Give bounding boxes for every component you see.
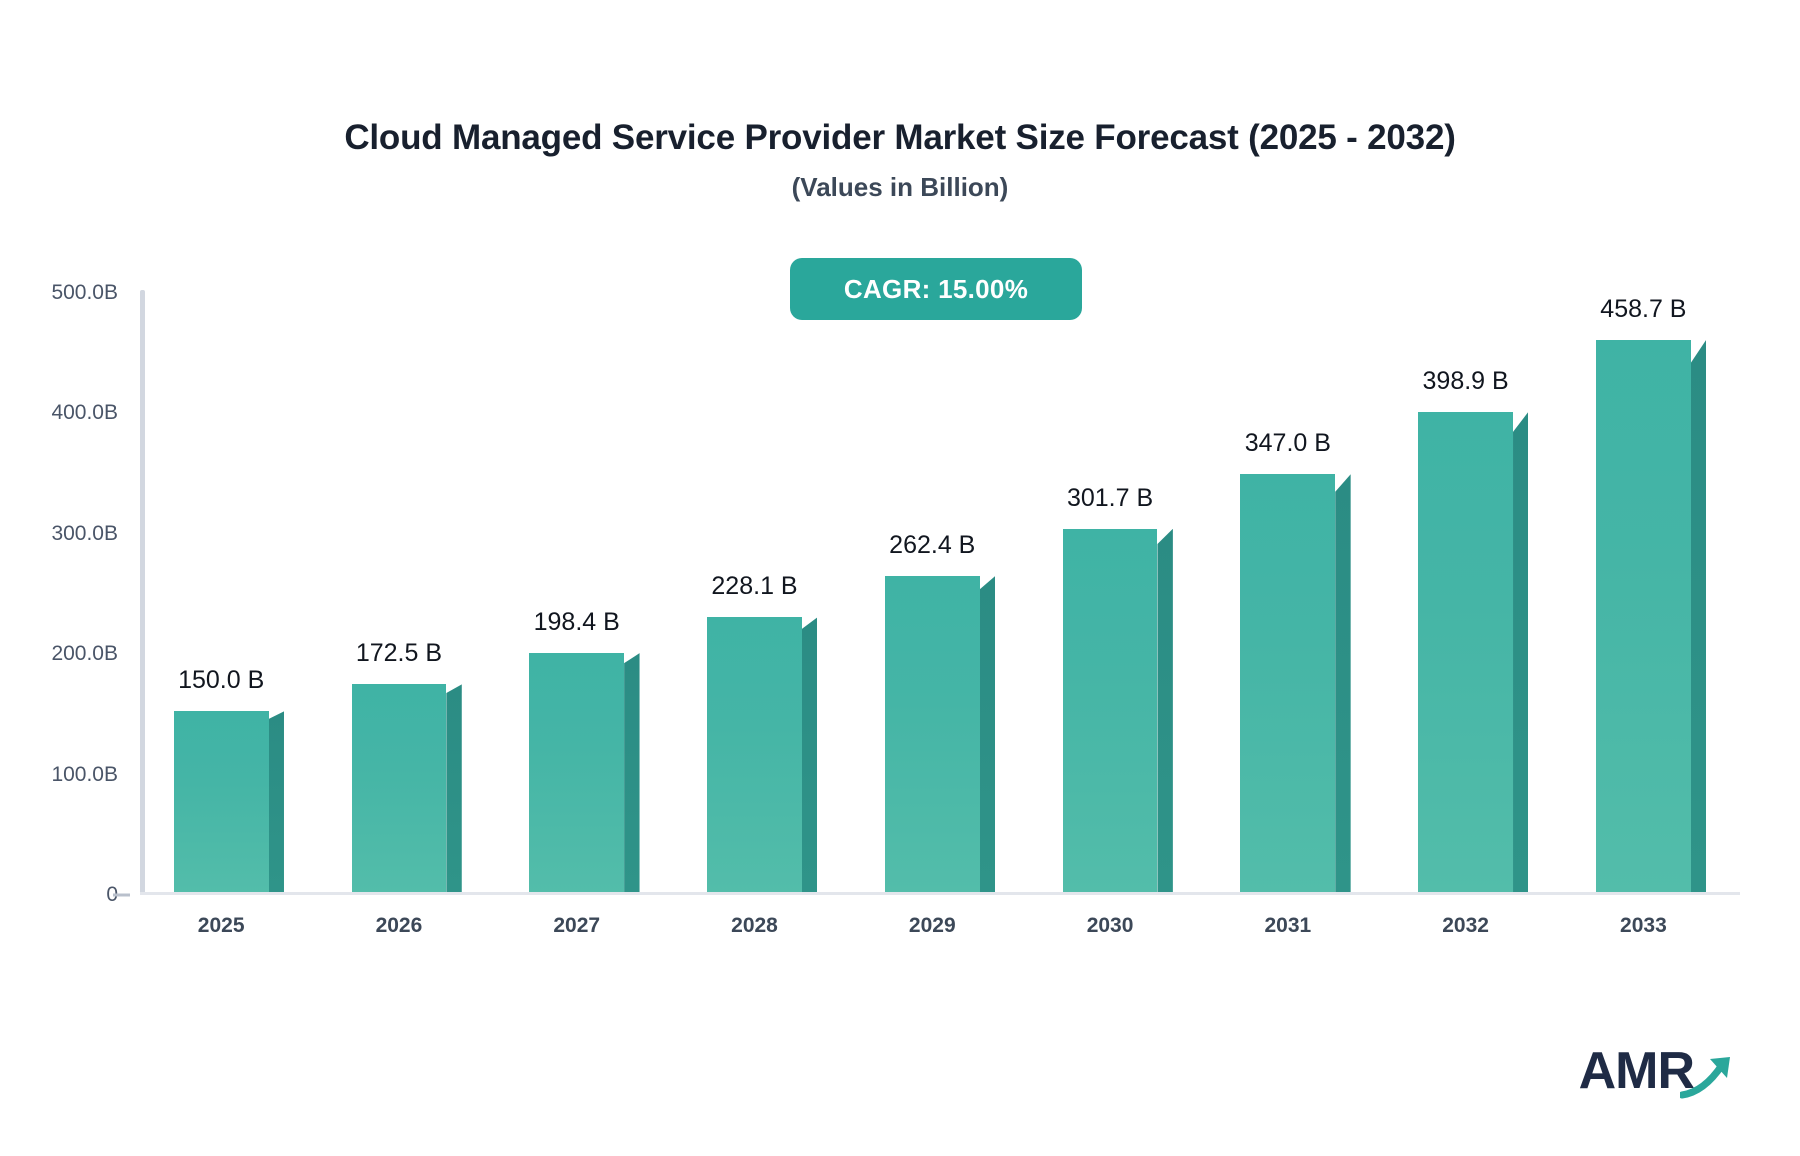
amr-logo: AMR xyxy=(1579,1037,1738,1104)
bar-group: 172.5 B2026 xyxy=(352,290,462,892)
bar-group: 198.4 B2027 xyxy=(529,290,639,892)
bar-group: 347.0 B2031 xyxy=(1240,290,1350,892)
bar[interactable]: 458.7 B xyxy=(1596,340,1706,892)
bar-side-face xyxy=(1691,340,1706,892)
x-axis-tick-label: 2030 xyxy=(1063,914,1158,938)
chart-page: Cloud Managed Service Provider Market Si… xyxy=(0,0,1800,1156)
bar-value-label: 301.7 B xyxy=(1063,484,1158,513)
x-axis-tick-label: 2028 xyxy=(707,914,802,938)
bar-value-label: 228.1 B xyxy=(707,572,802,601)
bar-group: 150.0 B2025 xyxy=(174,290,284,892)
bar-side-face xyxy=(624,653,639,892)
bar-group: 458.7 B2033 xyxy=(1596,290,1706,892)
bar-side-face xyxy=(802,617,817,892)
cagr-badge: CAGR: 15.00% xyxy=(790,258,1082,320)
x-axis-tick-label: 2025 xyxy=(174,914,269,938)
bar-side-face xyxy=(1513,412,1528,892)
bar-side-face xyxy=(1335,474,1350,892)
bar[interactable]: 347.0 B xyxy=(1240,474,1350,892)
bar-front-face xyxy=(1418,412,1513,892)
bar-value-label: 172.5 B xyxy=(352,639,447,668)
bar-front-face xyxy=(1596,340,1691,892)
bar-value-label: 262.4 B xyxy=(885,531,980,560)
y-axis-tick-label: 500.0B xyxy=(51,281,118,305)
bar-side-face xyxy=(1157,529,1172,892)
bar-side-face xyxy=(446,684,461,892)
y-axis-tick-label: 400.0B xyxy=(51,401,118,425)
bar[interactable]: 228.1 B xyxy=(707,617,817,892)
page-title: Cloud Managed Service Provider Market Si… xyxy=(0,118,1800,158)
bar[interactable]: 262.4 B xyxy=(885,576,995,892)
bar-value-label: 398.9 B xyxy=(1418,367,1513,396)
bar-front-face xyxy=(352,684,447,892)
up-right-arrow-icon xyxy=(1680,1053,1738,1104)
plot-area: 0100.0B200.0B300.0B400.0B500.0B 150.0 B2… xyxy=(140,290,1740,895)
bar-side-face xyxy=(269,711,284,892)
bar[interactable]: 398.9 B xyxy=(1418,412,1528,892)
bar-front-face xyxy=(1063,529,1158,892)
x-axis-tick-label: 2027 xyxy=(529,914,624,938)
bar-front-face xyxy=(707,617,802,892)
y-axis-tick-label: 200.0B xyxy=(51,642,118,666)
x-axis-tick-label: 2026 xyxy=(352,914,447,938)
bar[interactable]: 301.7 B xyxy=(1063,529,1173,892)
bar-group: 228.1 B2028 xyxy=(707,290,817,892)
bar-value-label: 198.4 B xyxy=(529,608,624,637)
bar-value-label: 347.0 B xyxy=(1240,429,1335,458)
y-axis-tick-mark xyxy=(113,894,130,897)
bar-front-face xyxy=(529,653,624,892)
bar[interactable]: 150.0 B xyxy=(174,711,284,892)
bar-value-label: 150.0 B xyxy=(174,666,269,695)
y-axis-tick-label: 100.0B xyxy=(51,763,118,787)
y-axis-tick-label: 300.0B xyxy=(51,522,118,546)
bar[interactable]: 198.4 B xyxy=(529,653,639,892)
x-axis-tick-label: 2031 xyxy=(1240,914,1335,938)
bar-front-face xyxy=(1240,474,1335,892)
bar-group: 398.9 B2032 xyxy=(1418,290,1528,892)
bar-value-label: 458.7 B xyxy=(1596,295,1691,324)
x-axis-tick-label: 2032 xyxy=(1418,914,1513,938)
bar-side-face xyxy=(980,576,995,892)
bar-front-face xyxy=(174,711,269,892)
chart-subtitle: (Values in Billion) xyxy=(0,172,1800,203)
x-axis-line xyxy=(140,892,1740,895)
bar[interactable]: 172.5 B xyxy=(352,684,462,892)
bar-front-face xyxy=(885,576,980,892)
x-axis-tick-label: 2033 xyxy=(1596,914,1691,938)
bar-group: 301.7 B2030 xyxy=(1063,290,1173,892)
logo-text: AMR xyxy=(1579,1041,1694,1101)
cagr-badge-label: CAGR: 15.00% xyxy=(844,274,1028,305)
x-axis-tick-label: 2029 xyxy=(885,914,980,938)
bar-series: 150.0 B2025172.5 B2026198.4 B2027228.1 B… xyxy=(140,290,1740,892)
bar-group: 262.4 B2029 xyxy=(885,290,995,892)
